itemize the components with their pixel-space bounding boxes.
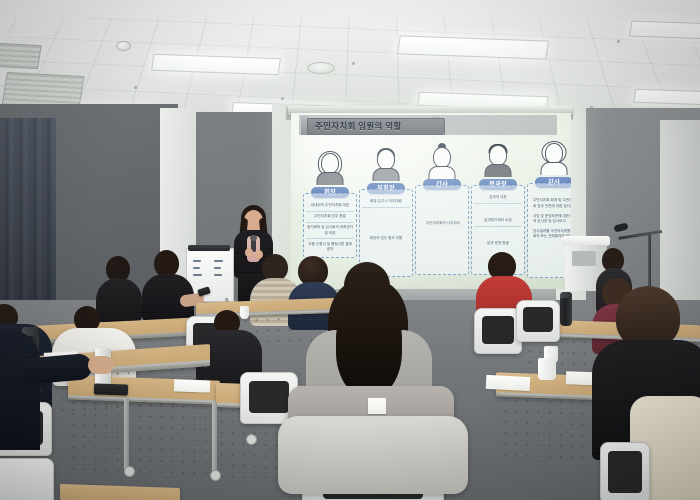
woman-bob-hair-avatar — [315, 151, 345, 185]
seminar-room-photo: 주민자치회 임원의 역할 회장 대내외적 주민자치회 대표 주민자치회 업무 총… — [0, 0, 700, 500]
slide-role-line: 대내외적 주민자치회 대표 — [306, 201, 354, 212]
air-vent — [0, 43, 42, 69]
table-caster — [210, 470, 221, 481]
recessed-panel-light — [633, 89, 700, 106]
avatar-body — [373, 168, 400, 181]
smoke-detector — [116, 41, 131, 51]
attendee-torso — [0, 330, 40, 450]
slide-role-line: 주민자치회 회계 및 주민자치회 업무 전반에 대한 감사권자 — [530, 196, 571, 211]
flipchart-writing — [214, 267, 221, 269]
smartphone — [94, 383, 128, 395]
woman-curly-avatar — [539, 141, 569, 175]
flipchart-writing — [214, 274, 222, 276]
paper-cup — [538, 358, 556, 380]
ceiling-fixture-dot — [134, 86, 137, 89]
chair-pad — [249, 381, 289, 413]
slide-role-line: 분과의 대표 — [474, 193, 522, 204]
slide-role-line: 주민자치회의 사무처리 — [418, 219, 466, 229]
slide-title: 주민자치회 임원의 역할 — [307, 118, 445, 135]
black-thermos — [560, 296, 572, 326]
slide-role-line: 회장 유고시 직무대행 — [362, 197, 410, 208]
slide-role-line: 분과 운영 총괄 — [474, 239, 522, 249]
projection-screen: 주민자치회 임원의 역할 회장 대내외적 주민자치회 대표 주민자치회 업무 총… — [291, 113, 571, 289]
thermos-cap — [560, 292, 572, 298]
attendee-torso — [96, 278, 142, 322]
slide-role-line: 사업 및 운영부문에 대한 정기적 감사권 및 감사보고 — [530, 211, 571, 226]
table-caster — [124, 466, 135, 477]
slide-role-detail-box: 대내외적 주민자치회 대표 주민자치회 업무 총괄 정기회의 및 임시회의 개최… — [303, 193, 357, 258]
chair[interactable] — [474, 308, 522, 354]
flipchart-writing — [193, 267, 200, 269]
attendee-head — [616, 286, 680, 348]
avatar-head — [321, 153, 339, 174]
avatar-head — [377, 149, 395, 170]
flipchart-writing — [193, 260, 201, 262]
ceiling-fixture-dot — [352, 62, 355, 65]
attendee-head — [262, 254, 288, 281]
coat-tag — [368, 398, 386, 414]
flipchart-writing — [193, 274, 202, 276]
slide-role-line: 정기회의 및 임시회의 개최권자 및 의장 — [306, 223, 354, 239]
slide-role-detail-box: 주민자치회의 사무처리 — [415, 185, 469, 275]
chair[interactable] — [600, 442, 650, 500]
ceiling-speaker — [307, 62, 335, 74]
presenter-hand — [245, 248, 253, 257]
paper-handout — [174, 379, 210, 392]
chair-pad — [608, 451, 642, 493]
microphone-head — [250, 235, 257, 241]
slide-role-line: 주민자치회 업무 총괄 — [306, 212, 354, 223]
table-leg — [212, 402, 217, 476]
slide-role-line: 분과정기회의 소집 — [474, 216, 522, 227]
avatar-head — [545, 143, 563, 164]
recessed-panel-light — [629, 21, 700, 40]
table-leg — [124, 398, 129, 470]
microphone-head — [613, 222, 628, 232]
slide-role-line: 회장의 업무 협조 지원 — [362, 234, 410, 244]
slide-role-line: 각종 신청서 및 행정서류 결재권자 — [306, 239, 354, 254]
paper-cup — [240, 306, 249, 319]
flipchart-clamp — [188, 245, 230, 251]
man-bowtie-avatar — [483, 143, 513, 177]
attendee-head — [154, 250, 179, 277]
mic-stand-boom-arm — [618, 230, 662, 240]
avatar-body — [485, 164, 512, 177]
table-modesty-panel — [68, 395, 220, 476]
man-short-hair-avatar — [371, 147, 401, 181]
lectern-panel — [572, 251, 596, 266]
avatar-head — [433, 147, 451, 168]
paper-handout — [486, 375, 531, 391]
attendee-hand — [88, 356, 114, 374]
chair[interactable] — [516, 300, 560, 342]
woman-topknot-avatar — [427, 145, 457, 179]
chair[interactable] — [0, 458, 54, 500]
avatar-head — [489, 145, 507, 166]
ceiling-fixture-dot — [617, 40, 620, 43]
avatar-body — [429, 166, 456, 179]
ceiling-fixture-dot — [281, 97, 284, 100]
attendee-hair-front — [336, 302, 402, 398]
avatar-body — [317, 172, 344, 185]
table-caster — [246, 434, 257, 445]
flipchart-writing — [214, 260, 223, 262]
gray-coat-fleece — [278, 416, 468, 494]
chair-pad — [482, 316, 514, 344]
presenter-hand — [255, 250, 263, 259]
chair-pad — [523, 307, 553, 332]
avatar-body — [541, 162, 568, 175]
